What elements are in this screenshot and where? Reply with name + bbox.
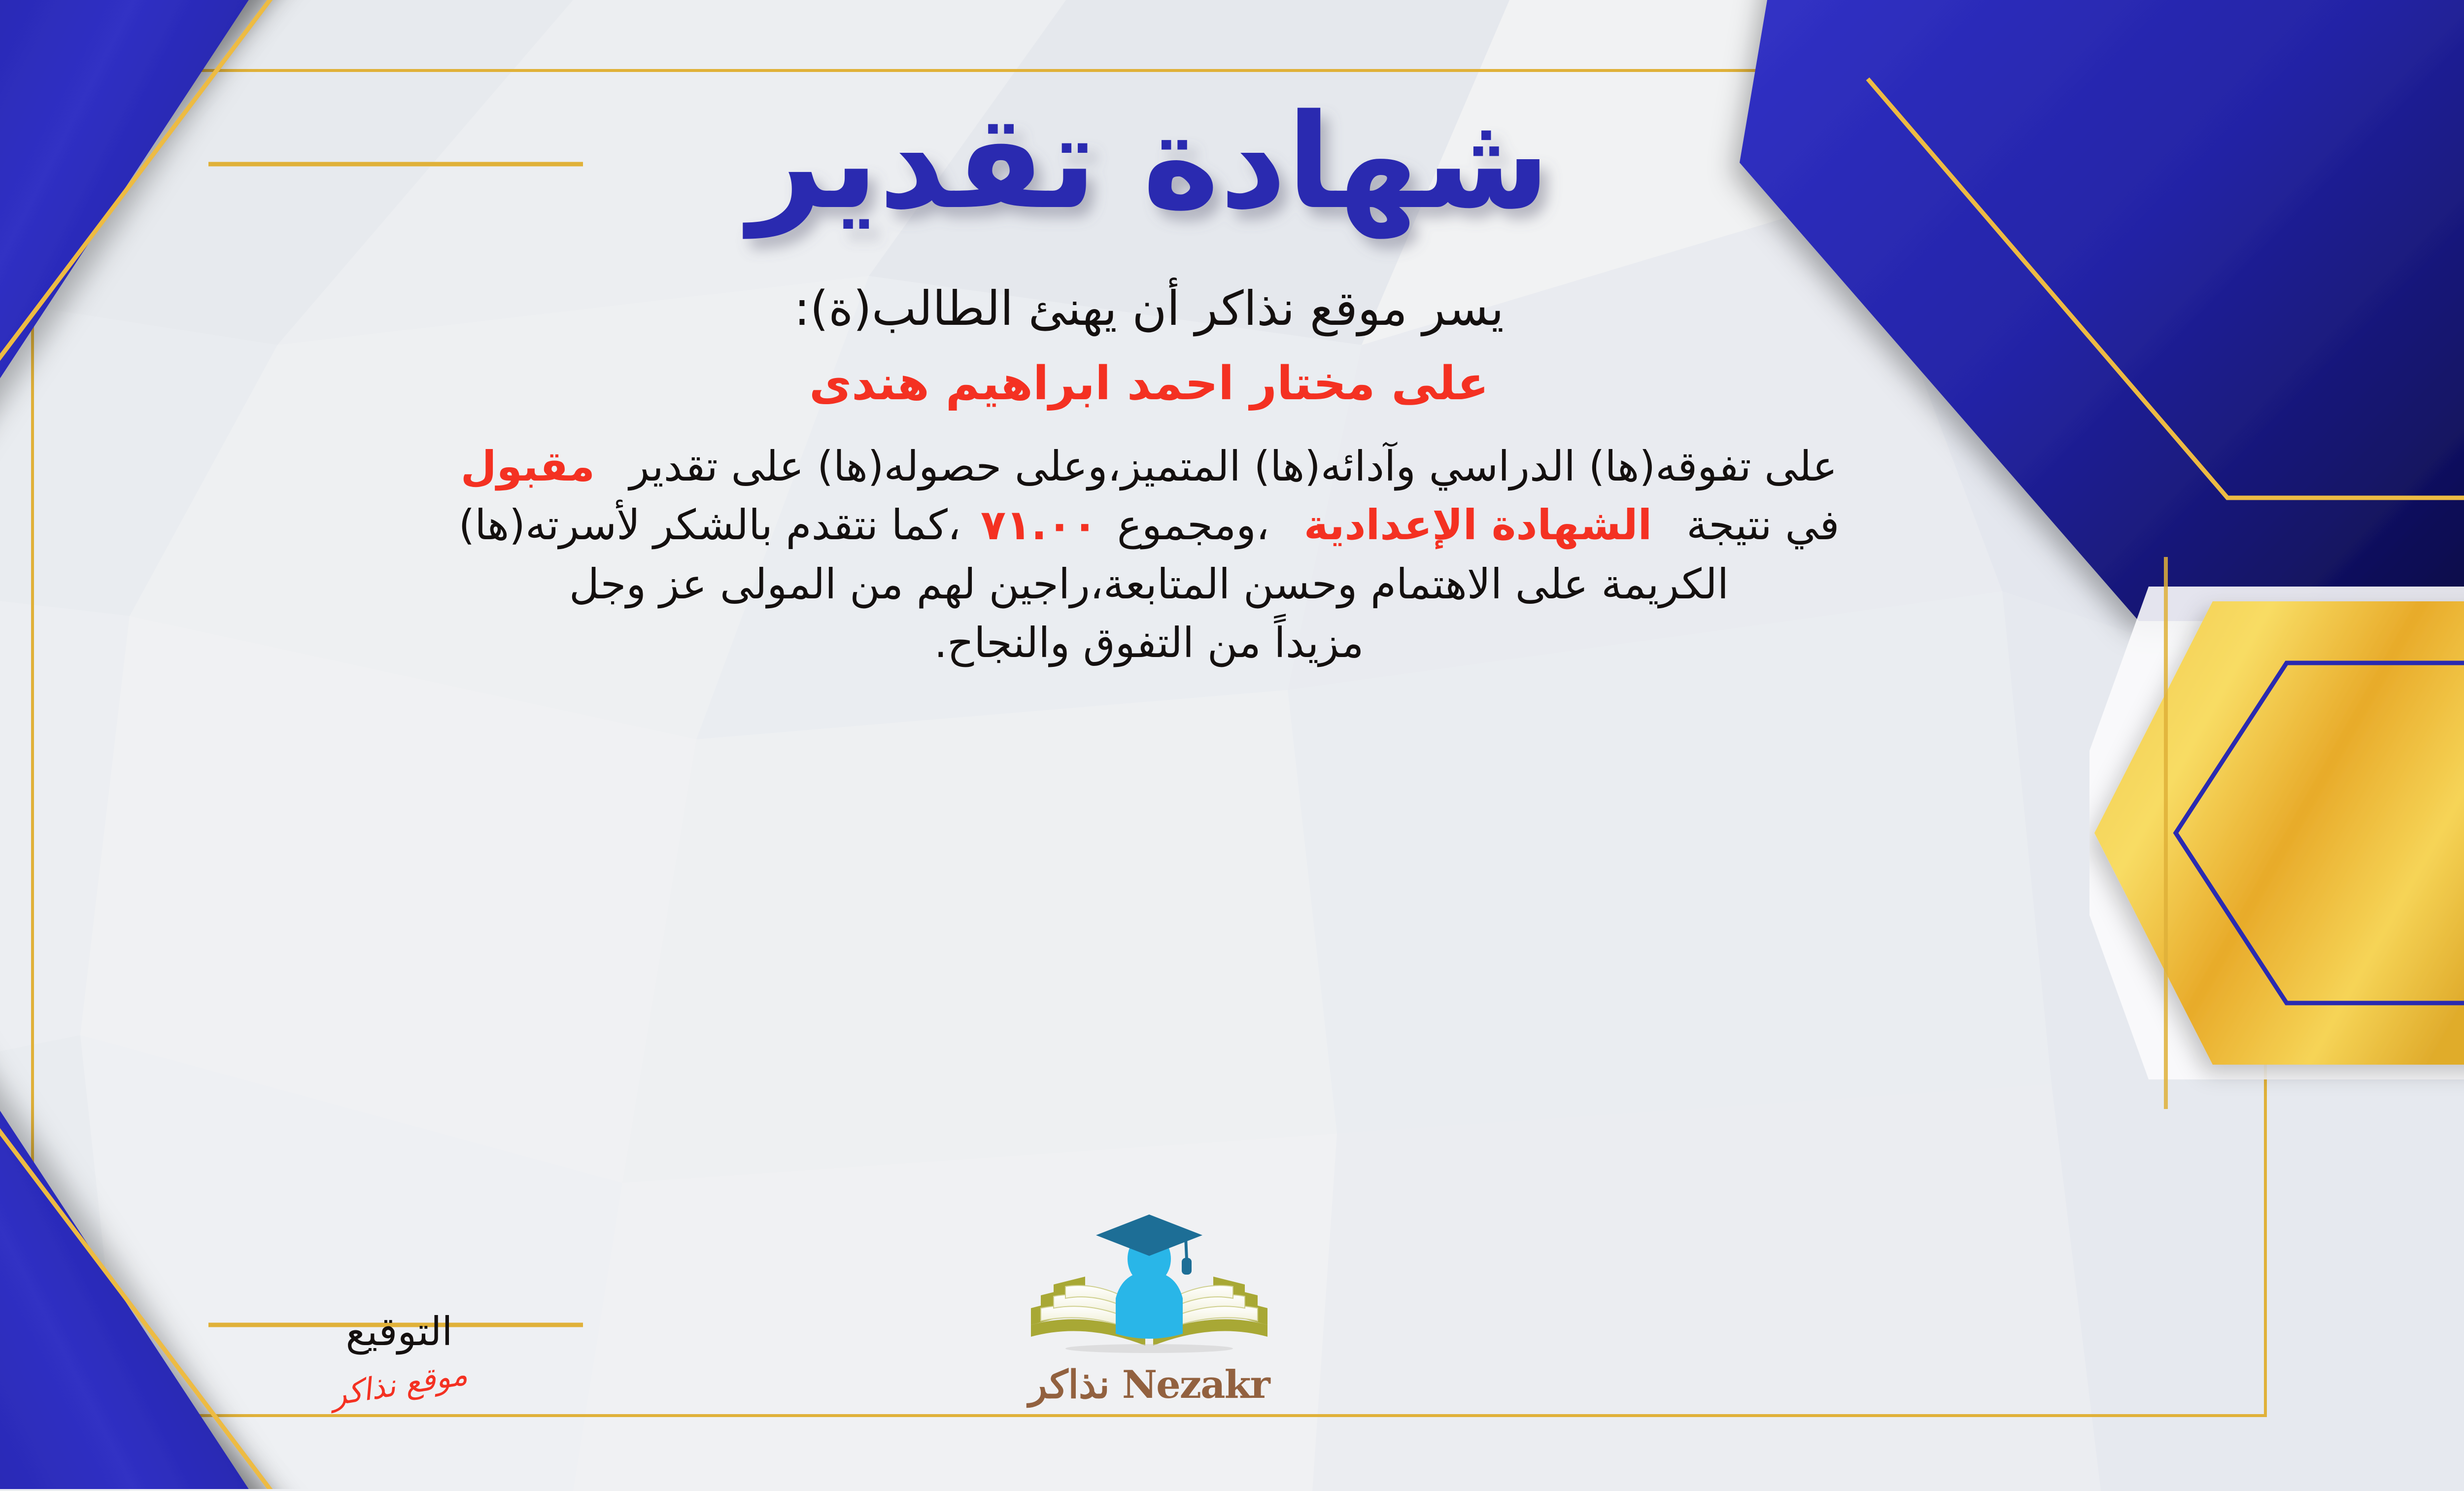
page-title: شهادة تقدير — [656, 59, 1642, 266]
body-line-2: في نتيجةالشهادة الإعدادية،ومجموع٧١.٠٠،كم… — [6, 496, 2293, 555]
body-line-4: مزيداً من التفوق والنجاح. — [6, 614, 2293, 672]
exam-name: الشهادة الإعدادية — [1304, 501, 1652, 549]
body-line-2-suffix: ،كما نتقدم بالشكر لأسرته(ها) — [459, 501, 961, 549]
title-calligraphy: شهادة تقدير — [656, 59, 1642, 266]
body-line-3: الكريمة على الاهتمام وحسن المتابعة،راجين… — [6, 555, 2293, 614]
body-line-2-prefix: في نتيجة — [1686, 501, 1839, 549]
greeting-line: يسر موقع نذاكر أن يهنئ الطالب(ة): — [794, 281, 1504, 336]
body-line-1-text: على تفوقه(ها) الدراسي وآدائه(ها) المتميز… — [629, 442, 1837, 490]
title-text: شهادة تقدير — [742, 86, 1550, 240]
score-value: ٧١.٠٠ — [981, 501, 1097, 549]
student-name: على مختار احمد ابراهيم هندى — [809, 357, 1489, 411]
grade-value: مقبول — [461, 442, 595, 490]
graduate-book-icon — [1011, 1212, 1287, 1359]
logo-wordmark: Nezakr نذاكر — [1011, 1362, 1287, 1407]
body-line-2-mid: ،ومجموع — [1117, 501, 1269, 549]
body-paragraph: على تفوقه(ها) الدراسي وآدائه(ها) المتميز… — [6, 437, 2293, 672]
signature-label: التوقيع — [217, 1309, 582, 1354]
body-line-1: على تفوقه(ها) الدراسي وآدائه(ها) المتميز… — [6, 437, 2293, 496]
logo-mark — [1011, 1212, 1287, 1359]
brand-logo-block: Nezakr نذاكر — [1011, 1212, 1287, 1407]
signature-block: التوقيع موقع نذاكر — [217, 1309, 582, 1402]
